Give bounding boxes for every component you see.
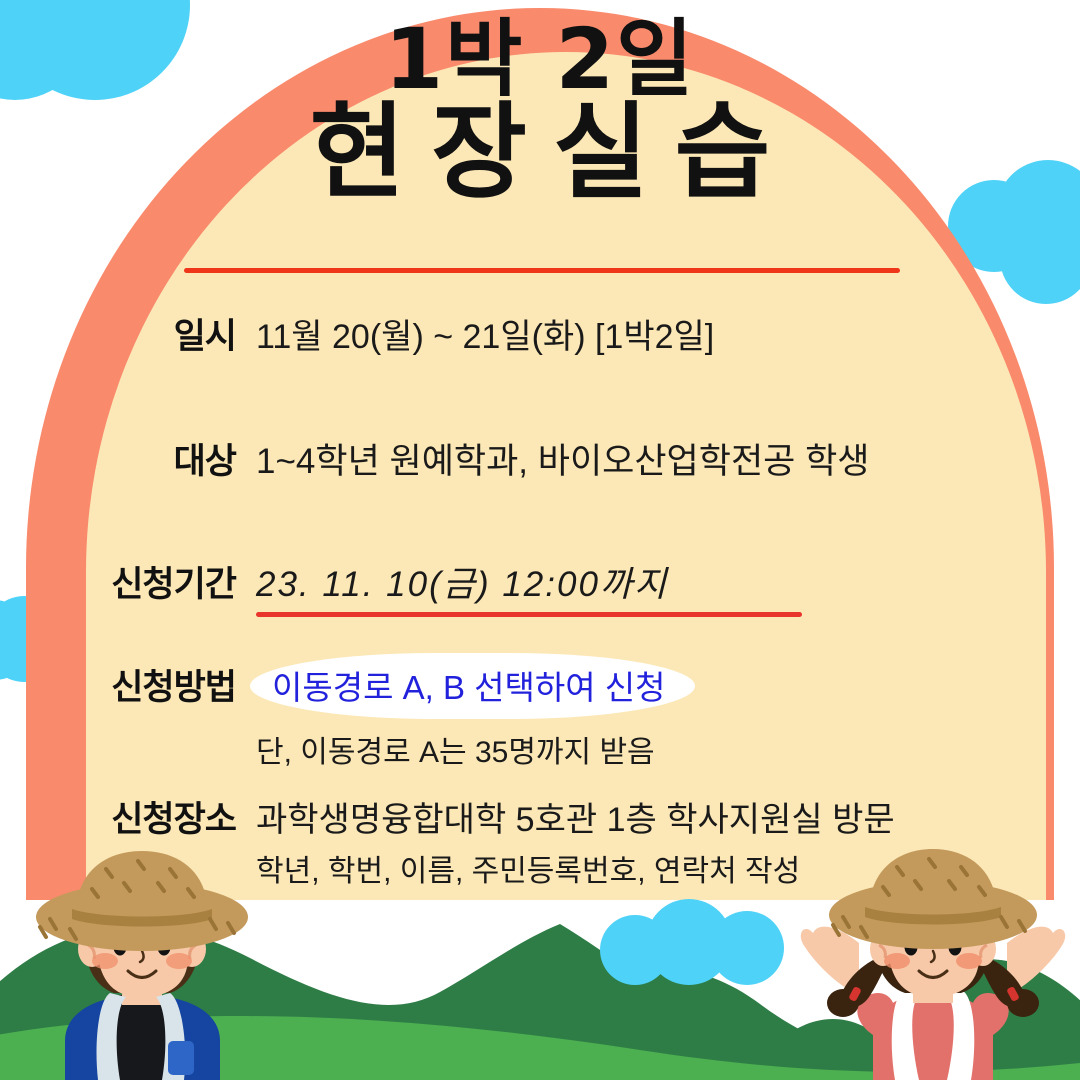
cloud-bottom-icon (600, 905, 790, 975)
row-method-note: 단, 이동경로 A는 35명까지 받음 (60, 727, 1020, 771)
label-date: 일시 (60, 308, 256, 359)
girl-cheek-right (956, 953, 982, 969)
label-application-period: 신청기간 (60, 556, 256, 607)
label-application-method: 신청방법 (60, 659, 256, 710)
row-application-place: 신청장소 과학생명융합대학 5호관 1층 학사지원실 방문 (60, 791, 1020, 842)
character-farmer-boy (10, 845, 300, 1080)
row-date: 일시 11월 20(월) ~ 21일(화) [1박2일] (60, 308, 1020, 359)
value-application-period: 23. 11. 10(금) 12:00까지 (256, 556, 668, 611)
row-target: 대상 1~4학년 원예학과, 바이오산업학전공 학생 (60, 433, 1020, 484)
title-block: 1박 2일 현장실습 (60, 18, 1020, 209)
row-application-period: 신청기간 23. 11. 10(금) 12:00까지 (60, 556, 1020, 611)
title-divider (184, 268, 900, 273)
girl-hat-crown (869, 849, 997, 913)
value-application-place: 과학생명융합대학 5호관 1층 학사지원실 방문 (256, 792, 895, 841)
title-line-2: 현장실습 (60, 96, 1020, 208)
row-application-method: 신청방법 이동경로 A, B 선택하여 신청 (60, 657, 1020, 715)
value-place-note: 학년, 학번, 이름, 주민등록번호, 연락처 작성 (256, 846, 800, 890)
boy-hat-crown (76, 851, 208, 915)
application-method-highlight: 이동경로 A, B 선택하여 신청 (250, 657, 695, 715)
boy-cheek-left (92, 953, 118, 969)
girl-cheek-left (884, 953, 910, 969)
value-target: 1~4학년 원예학과, 바이오산업학전공 학생 (256, 433, 869, 484)
value-method-note: 단, 이동경로 A는 35명까지 받음 (256, 727, 655, 771)
label-application-place: 신청장소 (60, 791, 256, 842)
boy-cheek-right (166, 953, 192, 969)
value-application-method: 이동경로 A, B 선택하여 신청 (272, 669, 665, 706)
value-date: 11월 20(월) ~ 21일(화) [1박2일] (256, 309, 714, 358)
label-target: 대상 (60, 433, 256, 484)
poster-canvas: 1박 2일 현장실습 일시 11월 20(월) ~ 21일(화) [1박2일] … (0, 0, 1080, 1080)
boy-jacket-pocket (168, 1041, 194, 1075)
info-list: 일시 11월 20(월) ~ 21일(화) [1박2일] 대상 1~4학년 원예… (60, 300, 1020, 890)
application-period-underline (256, 612, 802, 617)
character-farmer-girl (795, 845, 1080, 1080)
title-line-1: 1박 2일 (60, 18, 1020, 100)
